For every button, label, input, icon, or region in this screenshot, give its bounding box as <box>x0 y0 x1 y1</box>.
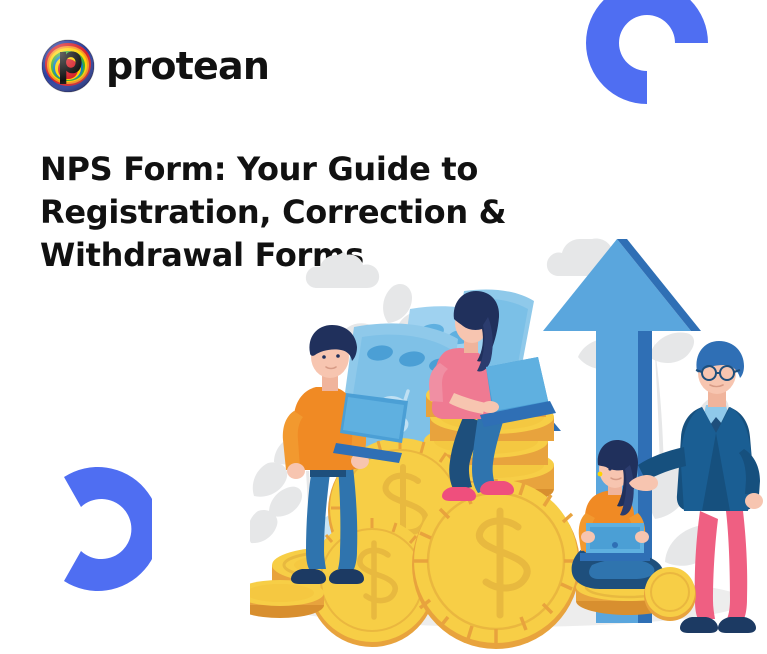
protean-globe-logo-icon <box>40 38 96 94</box>
decorative-arc-top-right <box>572 0 722 104</box>
brand-name: protean <box>106 47 269 85</box>
poster-canvas: protean NPS Form: Your Guide to Registra… <box>0 0 767 654</box>
brand-logo[interactable]: protean <box>40 38 269 94</box>
decorative-arc-bottom-left <box>34 455 152 603</box>
